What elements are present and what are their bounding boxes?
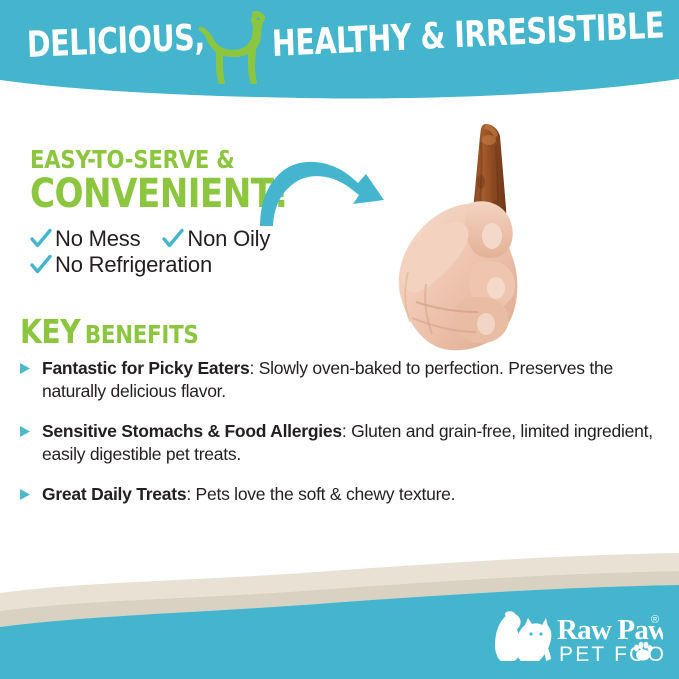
bullet-triangle-icon xyxy=(20,357,42,403)
feature-row-first: No Mess Non Oily xyxy=(30,226,330,252)
checkmark-icon xyxy=(162,228,184,250)
feature-label-no-mess: No Mess xyxy=(55,226,140,252)
curved-arrow-icon xyxy=(258,160,390,228)
benefit-text-picky-eaters: Fantastic for Picky Eaters: Slowly oven-… xyxy=(42,357,665,403)
benefit-text-sensitive-stomachs: Sensitive Stomachs & Food Allergies: Glu… xyxy=(42,420,665,466)
header-banner: Delicious, Healthy & Irresistible xyxy=(0,0,679,100)
benefit-item-sensitive-stomachs: Sensitive Stomachs & Food Allergies: Glu… xyxy=(20,420,665,466)
key-benefits-heading: KeyBenefits xyxy=(20,312,198,351)
header-headline: Delicious, Healthy & Irresistible xyxy=(0,0,679,100)
registered-trademark-symbol: ® xyxy=(651,614,659,626)
benefit-lead-daily-treats: Great Daily Treats xyxy=(42,484,186,504)
brand-name-text: Raw Paws xyxy=(557,614,663,646)
bullet-triangle-icon xyxy=(20,420,42,466)
feature-no-refrigeration: No Refrigeration xyxy=(30,252,212,278)
feature-non-oily: Non Oily xyxy=(162,226,270,252)
checkmark-icon xyxy=(30,228,52,250)
benefit-item-daily-treats: Great Daily Treats: Pets love the soft &… xyxy=(20,483,665,506)
benefit-item-picky-eaters: Fantastic for Picky Eaters: Slowly oven-… xyxy=(20,357,665,403)
benefits-list: Fantastic for Picky Eaters: Slowly oven-… xyxy=(20,357,665,523)
feature-label-no-refrigeration: No Refrigeration xyxy=(55,252,212,278)
key-benefits-heading-key: Key xyxy=(20,312,80,351)
benefit-lead-sensitive-stomachs: Sensitive Stomachs & Food Allergies xyxy=(42,421,342,441)
headline-delicious: Delicious, xyxy=(26,17,205,66)
feature-no-mess: No Mess xyxy=(30,226,140,252)
bullet-triangle-icon xyxy=(20,483,42,506)
benefit-text-daily-treats: Great Daily Treats: Pets love the soft &… xyxy=(42,483,455,506)
benefit-body-daily-treats: : Pets love the soft & chewy texture. xyxy=(186,484,455,504)
dog-and-cat-silhouette-icon xyxy=(495,611,551,661)
checkmark-icon xyxy=(30,254,52,276)
headline-healthy-irresistible: Healthy & Irresistible xyxy=(271,5,664,65)
feature-label-non-oily: Non Oily xyxy=(187,226,270,252)
convenience-feature-list: No Mess Non Oily No Refrigeration xyxy=(30,226,330,278)
brand-logo: Raw Paws ® PET FOOD xyxy=(483,607,663,669)
feature-row-second: No Refrigeration xyxy=(30,252,330,278)
key-benefits-heading-benefits: Benefits xyxy=(85,320,199,349)
benefit-lead-picky-eaters: Fantastic for Picky Eaters xyxy=(42,358,249,378)
hand-holding-dog-treat-photo xyxy=(382,112,582,360)
dog-silhouette-icon xyxy=(198,6,270,90)
